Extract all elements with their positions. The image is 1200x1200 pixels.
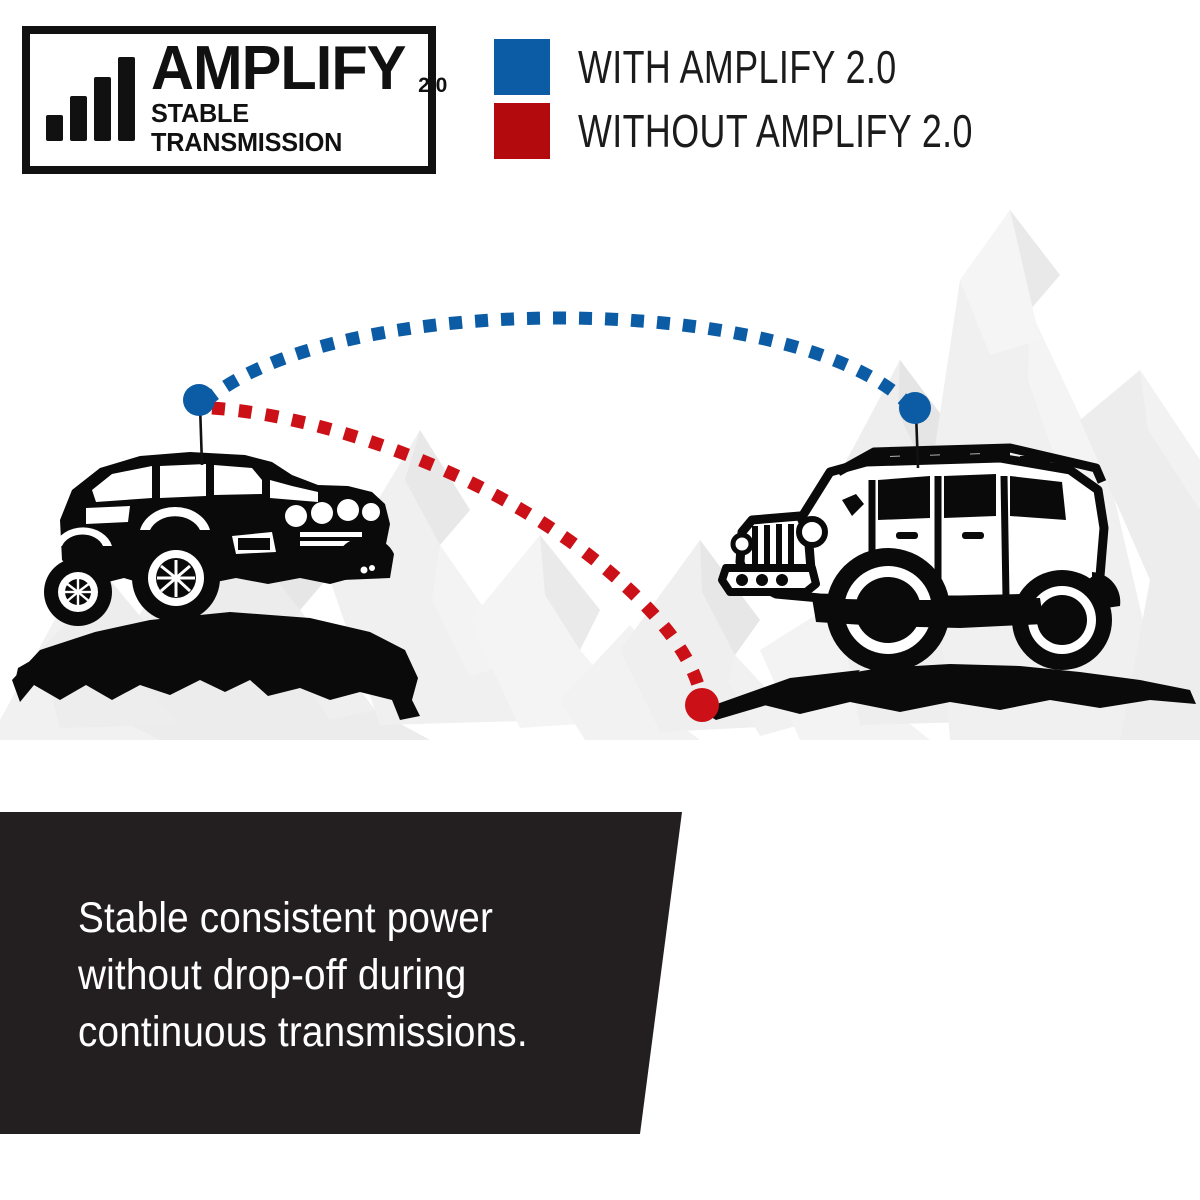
signal-bar-4 (118, 57, 135, 141)
blue-square-icon (494, 39, 550, 95)
logo-content: AMPLIFY 2.0 STABLE TRANSMISSION (30, 34, 428, 166)
amplify-logo-badge: AMPLIFY 2.0 STABLE TRANSMISSION (22, 26, 436, 174)
signal-dropoff-dot (685, 688, 719, 722)
signal-bars-icon (46, 59, 135, 141)
logo-name: AMPLIFY (151, 42, 406, 95)
signal-bar-2 (70, 96, 87, 141)
signal-bar-1 (46, 115, 63, 141)
legend-label-without-amplify: WITHOUT AMPLIFY 2.0 (578, 104, 973, 158)
logo-wordmark: AMPLIFY 2.0 STABLE TRANSMISSION (151, 42, 447, 157)
legend-item-with-amplify: WITH AMPLIFY 2.0 (494, 38, 1084, 96)
caption-line-2: without drop-off during (78, 947, 546, 1004)
caption-text: Stable consistent power without drop-off… (78, 890, 598, 1061)
signal-bar-3 (94, 77, 111, 141)
signal-received-dot (899, 392, 931, 424)
infographic-page: AMPLIFY 2.0 STABLE TRANSMISSION WITH AMP… (0, 0, 1200, 1200)
legend: WITH AMPLIFY 2.0 WITHOUT AMPLIFY 2.0 (494, 38, 1084, 166)
logo-tagline: STABLE TRANSMISSION (151, 100, 444, 158)
logo-version: 2.0 (418, 77, 447, 95)
caption-line-3: continuous transmissions. (78, 1004, 546, 1061)
caption-panel: Stable consistent power without drop-off… (0, 812, 700, 1142)
logo-title-row: AMPLIFY 2.0 (151, 42, 447, 95)
with-amplify-signal-arc (205, 318, 912, 408)
legend-label-with-amplify: WITH AMPLIFY 2.0 (578, 40, 897, 94)
signal-origin-dot (183, 384, 215, 416)
caption-line-1: Stable consistent power (78, 890, 546, 947)
scene-illustration (0, 180, 1200, 800)
red-square-icon (494, 103, 550, 159)
legend-item-without-amplify: WITHOUT AMPLIFY 2.0 (494, 102, 1084, 160)
